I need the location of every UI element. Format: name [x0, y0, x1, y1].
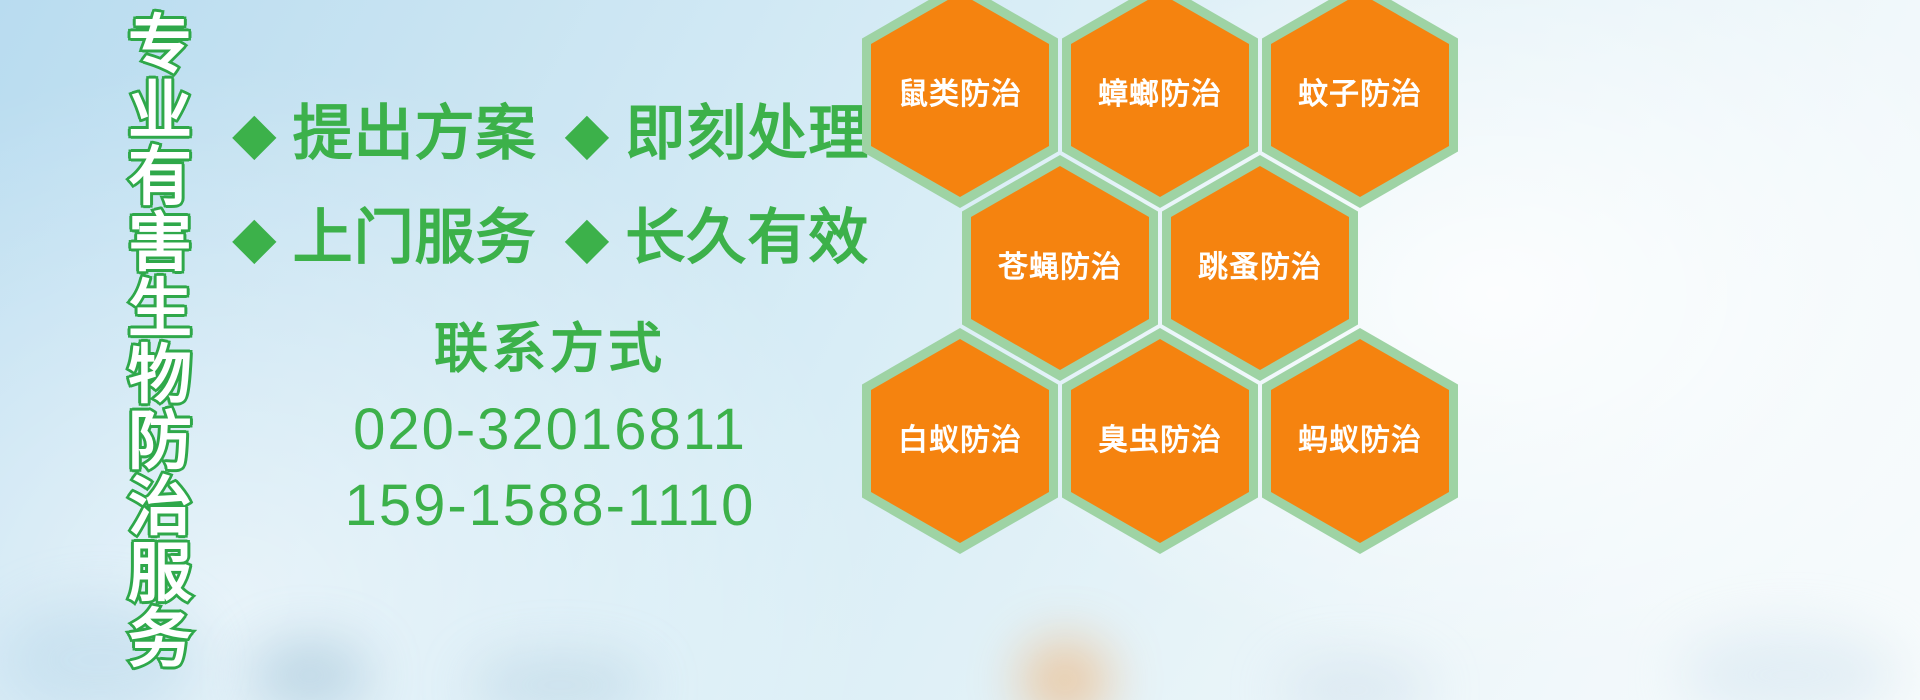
service-hexagon-label: 苍蝇防治 — [998, 251, 1122, 285]
background-blur-blob — [1020, 640, 1110, 700]
background-blur-blob — [250, 640, 370, 700]
vertical-headline-char: 物 — [128, 342, 192, 408]
vertical-headline: 专 业 有 害 生 物 防 治 服 务 — [112, 12, 208, 688]
background-blur-blob — [1680, 630, 1900, 700]
vertical-headline-char: 治 — [128, 474, 192, 540]
service-hexagon-bedbug[interactable]: 臭虫防治 — [1062, 328, 1258, 554]
service-hexagon-label: 白蚁防治 — [898, 424, 1022, 458]
service-hexagon-label: 臭虫防治 — [1098, 424, 1222, 458]
service-hexagon-label: 跳蚤防治 — [1198, 251, 1322, 285]
background-blur-blob — [470, 655, 650, 700]
diamond-bullet-icon: ◆ — [565, 105, 610, 163]
vertical-headline-char: 务 — [128, 606, 192, 672]
vertical-headline-char: 服 — [128, 540, 192, 606]
pest-control-banner: 专 业 有 害 生 物 防 治 服 务 ◆ 提出方案 ◆ 即刻处理 ◆ 上门服务… — [0, 0, 1920, 700]
vertical-headline-char: 业 — [128, 78, 192, 144]
diamond-bullet-icon: ◆ — [565, 209, 610, 267]
phone-number-landline[interactable]: 020-32016811 — [300, 392, 800, 468]
feature-row: ◆ 提出方案 ◆ 即刻处理 — [232, 82, 872, 186]
service-hexagon-label: 蚂蚁防治 — [1298, 424, 1422, 458]
contact-block: 联系方式 020-32016811 159-1588-1110 — [300, 318, 800, 544]
feature-label: 提出方案 — [293, 103, 537, 165]
diamond-bullet-icon: ◆ — [232, 209, 277, 267]
service-hexagon-label: 鼠类防治 — [898, 78, 1022, 112]
honeycomb-row-bottom: 白蚁防治 臭虫防治 蚂蚁防治 — [862, 328, 1462, 554]
phone-number-mobile[interactable]: 159-1588-1110 — [300, 468, 800, 544]
background-blur-blob — [1280, 660, 1430, 700]
service-hexagon-label: 蟑螂防治 — [1098, 78, 1222, 112]
feature-label: 长久有效 — [625, 207, 869, 269]
service-hexagon-label: 蚊子防治 — [1298, 78, 1422, 112]
service-hexagon-termite[interactable]: 白蚁防治 — [862, 328, 1058, 554]
contact-title: 联系方式 — [300, 318, 800, 380]
diamond-bullet-icon: ◆ — [232, 105, 277, 163]
feature-row: ◆ 上门服务 ◆ 长久有效 — [232, 186, 872, 290]
vertical-headline-char: 防 — [128, 408, 192, 474]
vertical-headline-char: 生 — [128, 276, 192, 342]
vertical-headline-char: 专 — [128, 12, 192, 78]
feature-list: ◆ 提出方案 ◆ 即刻处理 ◆ 上门服务 ◆ 长久有效 — [232, 82, 872, 290]
vertical-headline-char: 有 — [128, 144, 192, 210]
service-honeycomb: 鼠类防治 蟑螂防治 蚊子防治 苍蝇防治 跳蚤防治 — [862, 0, 1462, 562]
service-hexagon-ant[interactable]: 蚂蚁防治 — [1262, 328, 1458, 554]
vertical-headline-char: 害 — [128, 210, 192, 276]
feature-label: 即刻处理 — [625, 103, 869, 165]
feature-label: 上门服务 — [293, 207, 537, 269]
